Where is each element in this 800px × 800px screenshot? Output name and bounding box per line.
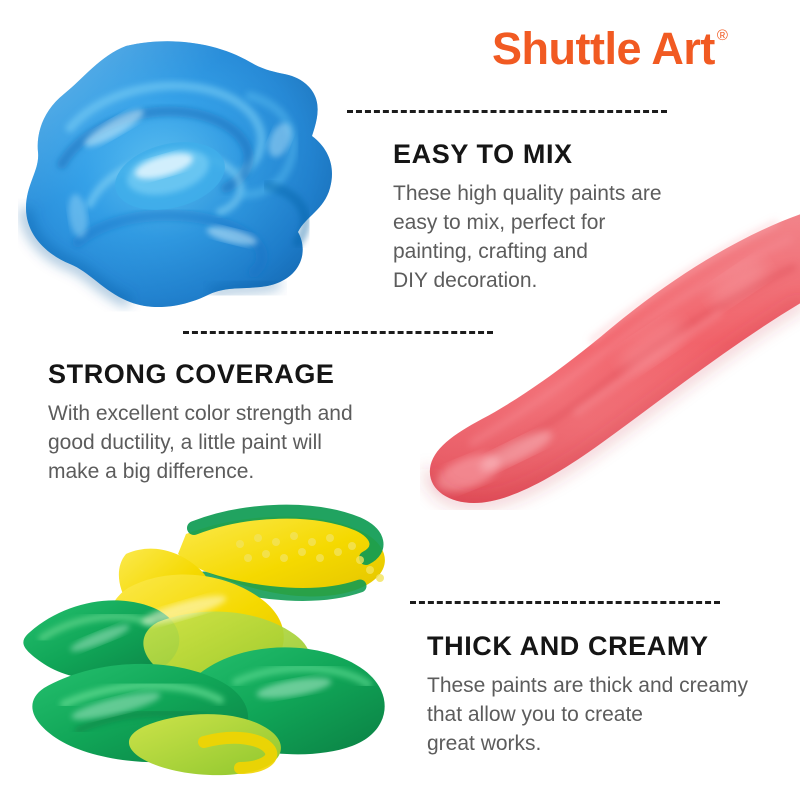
brand-logo: Shuttle Art ® — [492, 26, 728, 71]
feature-body: These high quality paints are easy to mi… — [393, 180, 723, 296]
blue-paint-swirl — [18, 36, 340, 318]
feature-strong-coverage: STRONG COVERAGE With excellent color str… — [48, 360, 418, 487]
brand-name: Shuttle Art — [492, 26, 715, 71]
product-feature-graphic: Shuttle Art ® EASY TO MIX These high qua… — [0, 0, 800, 800]
feature-easy-to-mix: EASY TO MIX These high quality paints ar… — [393, 140, 723, 296]
feature-title: THICK AND CREAMY — [427, 632, 787, 662]
feature-body: With excellent color strength and good d… — [48, 400, 418, 487]
green-yellow-paint-smear — [8, 492, 406, 780]
feature-thick-and-creamy: THICK AND CREAMY These paints are thick … — [427, 632, 787, 759]
registered-trademark-icon: ® — [717, 28, 728, 43]
divider-thick-and-creamy — [410, 601, 720, 604]
feature-title: EASY TO MIX — [393, 140, 723, 170]
divider-strong-coverage — [183, 331, 493, 334]
feature-title: STRONG COVERAGE — [48, 360, 418, 390]
divider-easy-to-mix — [347, 110, 667, 113]
feature-body: These paints are thick and creamy that a… — [427, 672, 787, 759]
